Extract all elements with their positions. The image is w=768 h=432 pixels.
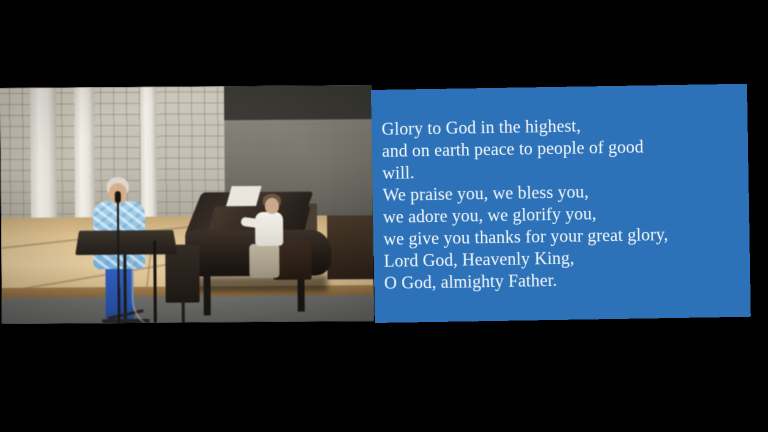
video-frame[interactable] bbox=[0, 85, 374, 324]
wall-upper-panel bbox=[224, 85, 374, 120]
lyrics-text-block: Glory to God in the highest, and on eart… bbox=[381, 112, 750, 294]
microphone-cable bbox=[131, 259, 164, 324]
pianist-head bbox=[265, 198, 279, 214]
pianist-legs bbox=[249, 244, 279, 278]
piano-leg bbox=[203, 273, 210, 315]
video-scene bbox=[0, 85, 374, 324]
second-music-stand-pole bbox=[182, 299, 185, 324]
music-stand-desk bbox=[75, 230, 177, 255]
piano-music-rack bbox=[226, 186, 262, 206]
lyrics-panel: Glory to God in the highest, and on eart… bbox=[371, 84, 751, 323]
pianist-torso bbox=[255, 212, 283, 246]
column-left bbox=[30, 85, 57, 236]
lyrics-line: O God, almighty Father. bbox=[384, 266, 750, 294]
column-middle bbox=[74, 85, 95, 235]
screen-root: Glory to God in the highest, and on eart… bbox=[0, 0, 768, 432]
background-furniture bbox=[327, 215, 374, 279]
